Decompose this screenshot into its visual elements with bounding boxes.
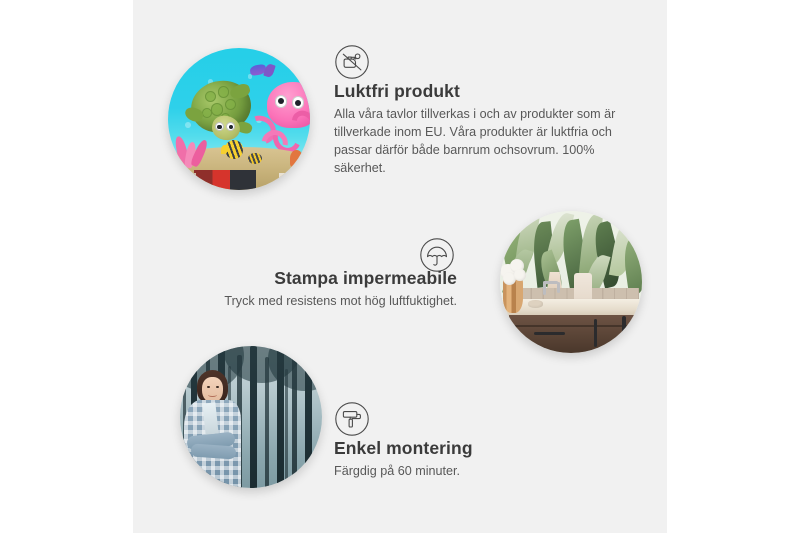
feature-title: Stampa impermeabile xyxy=(175,268,457,290)
feature-title: Luktfri produkt xyxy=(334,81,618,103)
feature-text-odour-free: Luktfri produkt Alla våra tavlor tillver… xyxy=(334,81,618,177)
feature-text-easy-mounting: Enkel montering Färgdig på 60 minuter. xyxy=(334,438,618,481)
feature-title: Enkel montering xyxy=(334,438,618,460)
paint-roller-icon xyxy=(334,401,370,437)
feature-description: Tryck med resistens mot hög luftfuktighe… xyxy=(175,293,457,311)
product-feature-banner: Luktfri produkt Alla våra tavlor tillver… xyxy=(0,0,800,533)
feature-text-water-resistant: Stampa impermeabile Tryck med resistens … xyxy=(175,268,457,311)
underwater-kids-scene-photo xyxy=(168,48,310,190)
no-perfume-spray-icon xyxy=(334,44,370,80)
woman-with-roller-forest-photo xyxy=(180,346,322,488)
feature-description: Alla våra tavlor tillverkas i och av pro… xyxy=(334,106,618,178)
feature-description: Färgdig på 60 minuter. xyxy=(334,463,618,481)
bathroom-leaf-wallpaper-photo xyxy=(500,211,642,353)
